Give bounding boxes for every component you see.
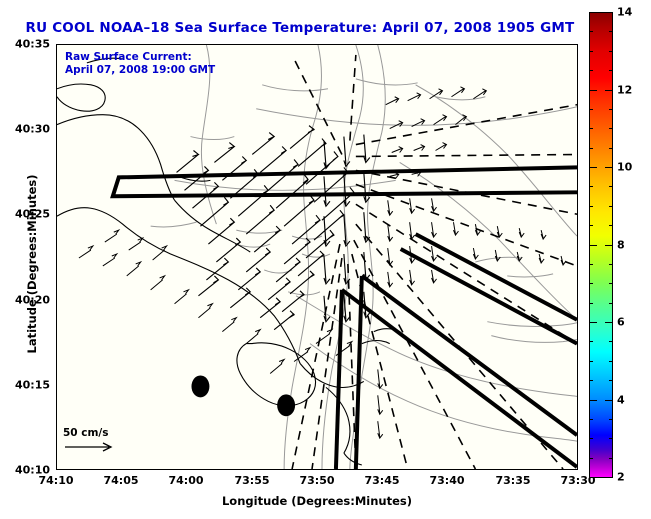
- radial-sector-lines: [292, 55, 577, 469]
- colorbar-tick-6-right: [605, 322, 613, 323]
- x-axis-label: Longitude (Degrees:Minutes): [56, 494, 578, 508]
- colorbar-label-2: 2: [617, 471, 625, 484]
- colorbar-tick-2: [589, 477, 597, 478]
- colorbar-tick-4: [589, 400, 597, 401]
- colorbar-label-14: 14: [617, 6, 632, 19]
- map-graphics: [57, 45, 577, 469]
- vector-scale-label: 50 cm/s: [63, 427, 123, 439]
- xtick-4: 73:50: [299, 474, 334, 487]
- xtick-7: 73:35: [495, 474, 530, 487]
- xtick-2: 74:00: [168, 474, 203, 487]
- colorbar-tick-6: [589, 322, 597, 323]
- ytick-0: 40:35: [8, 38, 50, 51]
- colorbar-label-8: 8: [617, 239, 625, 252]
- xtick-6: 73:40: [429, 474, 464, 487]
- colorbar-label-6: 6: [617, 316, 625, 329]
- colorbar-tick-12: [589, 90, 597, 91]
- colorbar-tick-4-right: [605, 400, 613, 401]
- colorbar-tick-8: [589, 245, 597, 246]
- radar-station-markers: [191, 375, 295, 416]
- scale-arrow-icon: [63, 439, 123, 455]
- colorbar-tick-14-right: [605, 12, 613, 13]
- annotation-line-1: Raw Surface Current:: [65, 51, 192, 64]
- vector-scale-legend: 50 cm/s: [63, 427, 123, 459]
- colorbar-tick-10: [589, 167, 597, 168]
- map-plot-area[interactable]: Raw Surface Current: April 07, 2008 19:0…: [56, 44, 578, 470]
- xtick-3: 73:55: [234, 474, 269, 487]
- page-title: RU COOL NOAA–18 Sea Surface Temperature:…: [0, 20, 600, 36]
- colorbar-label-12: 12: [617, 84, 632, 97]
- ytick-1: 40:30: [8, 123, 50, 136]
- screenshot-root: RU COOL NOAA–18 Sea Surface Temperature:…: [0, 0, 651, 519]
- colorbar-tick-2-right: [605, 477, 613, 478]
- colorbar-tick-14: [589, 12, 597, 13]
- y-axis-label: Latitude (Degrees:Minutes): [25, 144, 39, 384]
- colorbar-tick-12-right: [605, 90, 613, 91]
- ytick-5: 40:10: [8, 464, 50, 477]
- xtick-1: 74:05: [103, 474, 138, 487]
- xtick-5: 73:45: [364, 474, 399, 487]
- annotation-line-2: April 07, 2008 19:00 GMT: [65, 64, 215, 77]
- colorbar-tick-8-right: [605, 245, 613, 246]
- colorbar-label-10: 10: [617, 161, 632, 174]
- colorbar-label-4: 4: [617, 394, 625, 407]
- colorbar-tick-10-right: [605, 167, 613, 168]
